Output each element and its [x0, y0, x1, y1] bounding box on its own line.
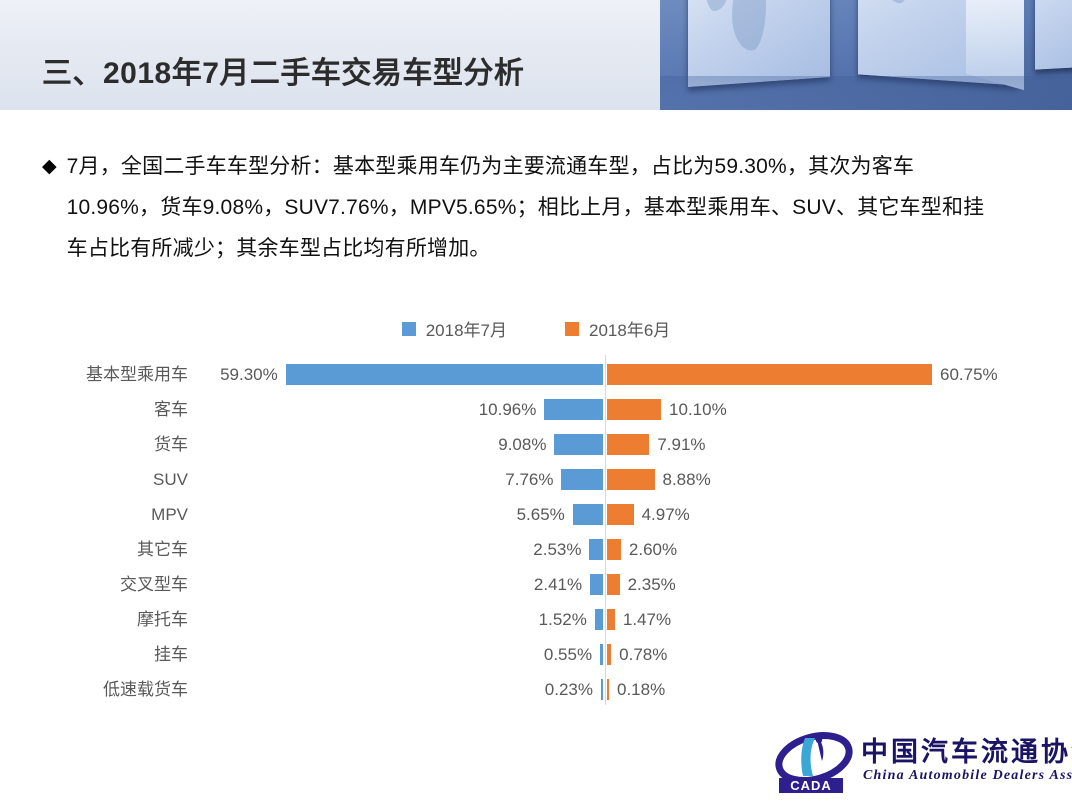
chart-row: SUV7.76%8.88%	[0, 462, 1072, 497]
legend-item[interactable]: 2018年6月	[565, 316, 670, 341]
bar-series-june[interactable]	[607, 679, 609, 700]
decorative-cube-3	[1035, 0, 1072, 70]
bar-series-july[interactable]	[589, 539, 603, 560]
chart-row: 货车9.08%7.91%	[0, 427, 1072, 462]
bar-series-july[interactable]	[573, 504, 603, 525]
bar-series-july[interactable]	[561, 469, 603, 490]
category-label: 摩托车	[0, 602, 188, 637]
vehicle-type-share-chart: 2018年7月2018年6月 基本型乘用车59.30%60.75%客车10.96…	[0, 300, 1072, 730]
bar-value-july: 9.08%	[498, 427, 546, 462]
bar-series-june[interactable]	[607, 539, 621, 560]
bar-value-june: 8.88%	[663, 462, 711, 497]
category-label: 货车	[0, 427, 188, 462]
bar-series-june[interactable]	[607, 574, 620, 595]
cada-logo-mark-icon: CADA	[775, 728, 853, 794]
chart-plot-area: 基本型乘用车59.30%60.75%客车10.96%10.10%货车9.08%7…	[0, 355, 1072, 715]
bullet-diamond-icon: ◆	[42, 146, 57, 187]
page-title: 三、2018年7月二手车交易车型分析	[42, 48, 524, 92]
legend-label: 2018年6月	[589, 316, 670, 341]
decorative-cube-2	[858, 0, 1018, 86]
bar-value-july: 59.30%	[220, 357, 278, 392]
legend-swatch-icon	[402, 322, 416, 336]
bar-series-june[interactable]	[607, 399, 661, 420]
logo-name-cn: 中国汽车流通协会	[861, 730, 1072, 769]
slide-root: 三、2018年7月二手车交易车型分析 ◆ 7月，全国二手车车型分析：基本型乘用车…	[0, 0, 1072, 804]
bar-value-july: 1.52%	[539, 602, 587, 637]
category-label: 交叉型车	[0, 567, 188, 602]
legend-swatch-icon	[565, 322, 579, 336]
bar-series-june[interactable]	[607, 364, 932, 385]
bar-value-july: 7.76%	[505, 462, 553, 497]
chart-row: 基本型乘用车59.30%60.75%	[0, 357, 1072, 392]
bar-value-july: 2.53%	[533, 532, 581, 567]
category-label: 其它车	[0, 532, 188, 567]
bar-value-june: 4.97%	[642, 497, 690, 532]
bar-value-june: 0.18%	[617, 672, 665, 707]
category-label: MPV	[0, 497, 188, 532]
bar-series-june[interactable]	[607, 469, 655, 490]
category-label: 低速载货车	[0, 672, 188, 707]
body-paragraph-text: 7月，全国二手车车型分析：基本型乘用车仍为主要流通车型，占比为59.30%，其次…	[67, 146, 1002, 269]
header-floor-shadow	[660, 76, 1072, 110]
chart-legend: 2018年7月2018年6月	[0, 316, 1072, 341]
bar-series-june[interactable]	[607, 504, 634, 525]
bar-value-june: 0.78%	[619, 637, 667, 672]
chart-row: 摩托车1.52%1.47%	[0, 602, 1072, 637]
bar-series-july[interactable]	[600, 644, 603, 665]
category-label: 挂车	[0, 637, 188, 672]
bar-series-july[interactable]	[554, 434, 603, 455]
bar-value-july: 2.41%	[534, 567, 582, 602]
bar-series-june[interactable]	[607, 644, 611, 665]
world-map-blob	[706, 0, 728, 12]
category-label: 基本型乘用车	[0, 357, 188, 392]
bar-series-june[interactable]	[607, 609, 615, 630]
bar-value-july: 5.65%	[517, 497, 565, 532]
logo-name-en: China Automobile Dealers Association	[863, 768, 1072, 784]
chart-row: 其它车2.53%2.60%	[0, 532, 1072, 567]
chart-row: MPV5.65%4.97%	[0, 497, 1072, 532]
category-label: SUV	[0, 462, 188, 497]
bar-value-june: 7.91%	[657, 427, 705, 462]
decorative-cube-1	[688, 0, 830, 87]
legend-label: 2018年7月	[426, 316, 507, 341]
slide-header-band: 三、2018年7月二手车交易车型分析	[0, 0, 1072, 110]
bar-value-june: 1.47%	[623, 602, 671, 637]
chart-row: 低速载货车0.23%0.18%	[0, 672, 1072, 707]
bar-value-june: 60.75%	[940, 357, 998, 392]
bar-series-july[interactable]	[595, 609, 603, 630]
bar-value-july: 10.96%	[479, 392, 537, 427]
chart-row: 挂车0.55%0.78%	[0, 637, 1072, 672]
world-map-blob	[884, 0, 910, 4]
bar-series-july[interactable]	[286, 364, 603, 385]
chart-row: 客车10.96%10.10%	[0, 392, 1072, 427]
bar-value-june: 10.10%	[669, 392, 727, 427]
bar-series-july[interactable]	[601, 679, 603, 700]
bar-series-july[interactable]	[544, 399, 603, 420]
bar-value-july: 0.23%	[545, 672, 593, 707]
bar-series-july[interactable]	[590, 574, 603, 595]
chart-row: 交叉型车2.41%2.35%	[0, 567, 1072, 602]
bar-value-june: 2.35%	[628, 567, 676, 602]
legend-item[interactable]: 2018年7月	[402, 316, 507, 341]
header-decorative-art	[660, 0, 1072, 110]
svg-text:CADA: CADA	[790, 778, 832, 793]
cada-logo: CADA 中国汽车流通协会 China Automobile Dealers A…	[775, 726, 1065, 796]
world-map-blob	[732, 0, 766, 52]
bar-value-july: 0.55%	[544, 637, 592, 672]
bar-value-june: 2.60%	[629, 532, 677, 567]
bar-series-june[interactable]	[607, 434, 649, 455]
body-paragraph-block: ◆ 7月，全国二手车车型分析：基本型乘用车仍为主要流通车型，占比为59.30%，…	[42, 146, 1002, 269]
category-label: 客车	[0, 392, 188, 427]
